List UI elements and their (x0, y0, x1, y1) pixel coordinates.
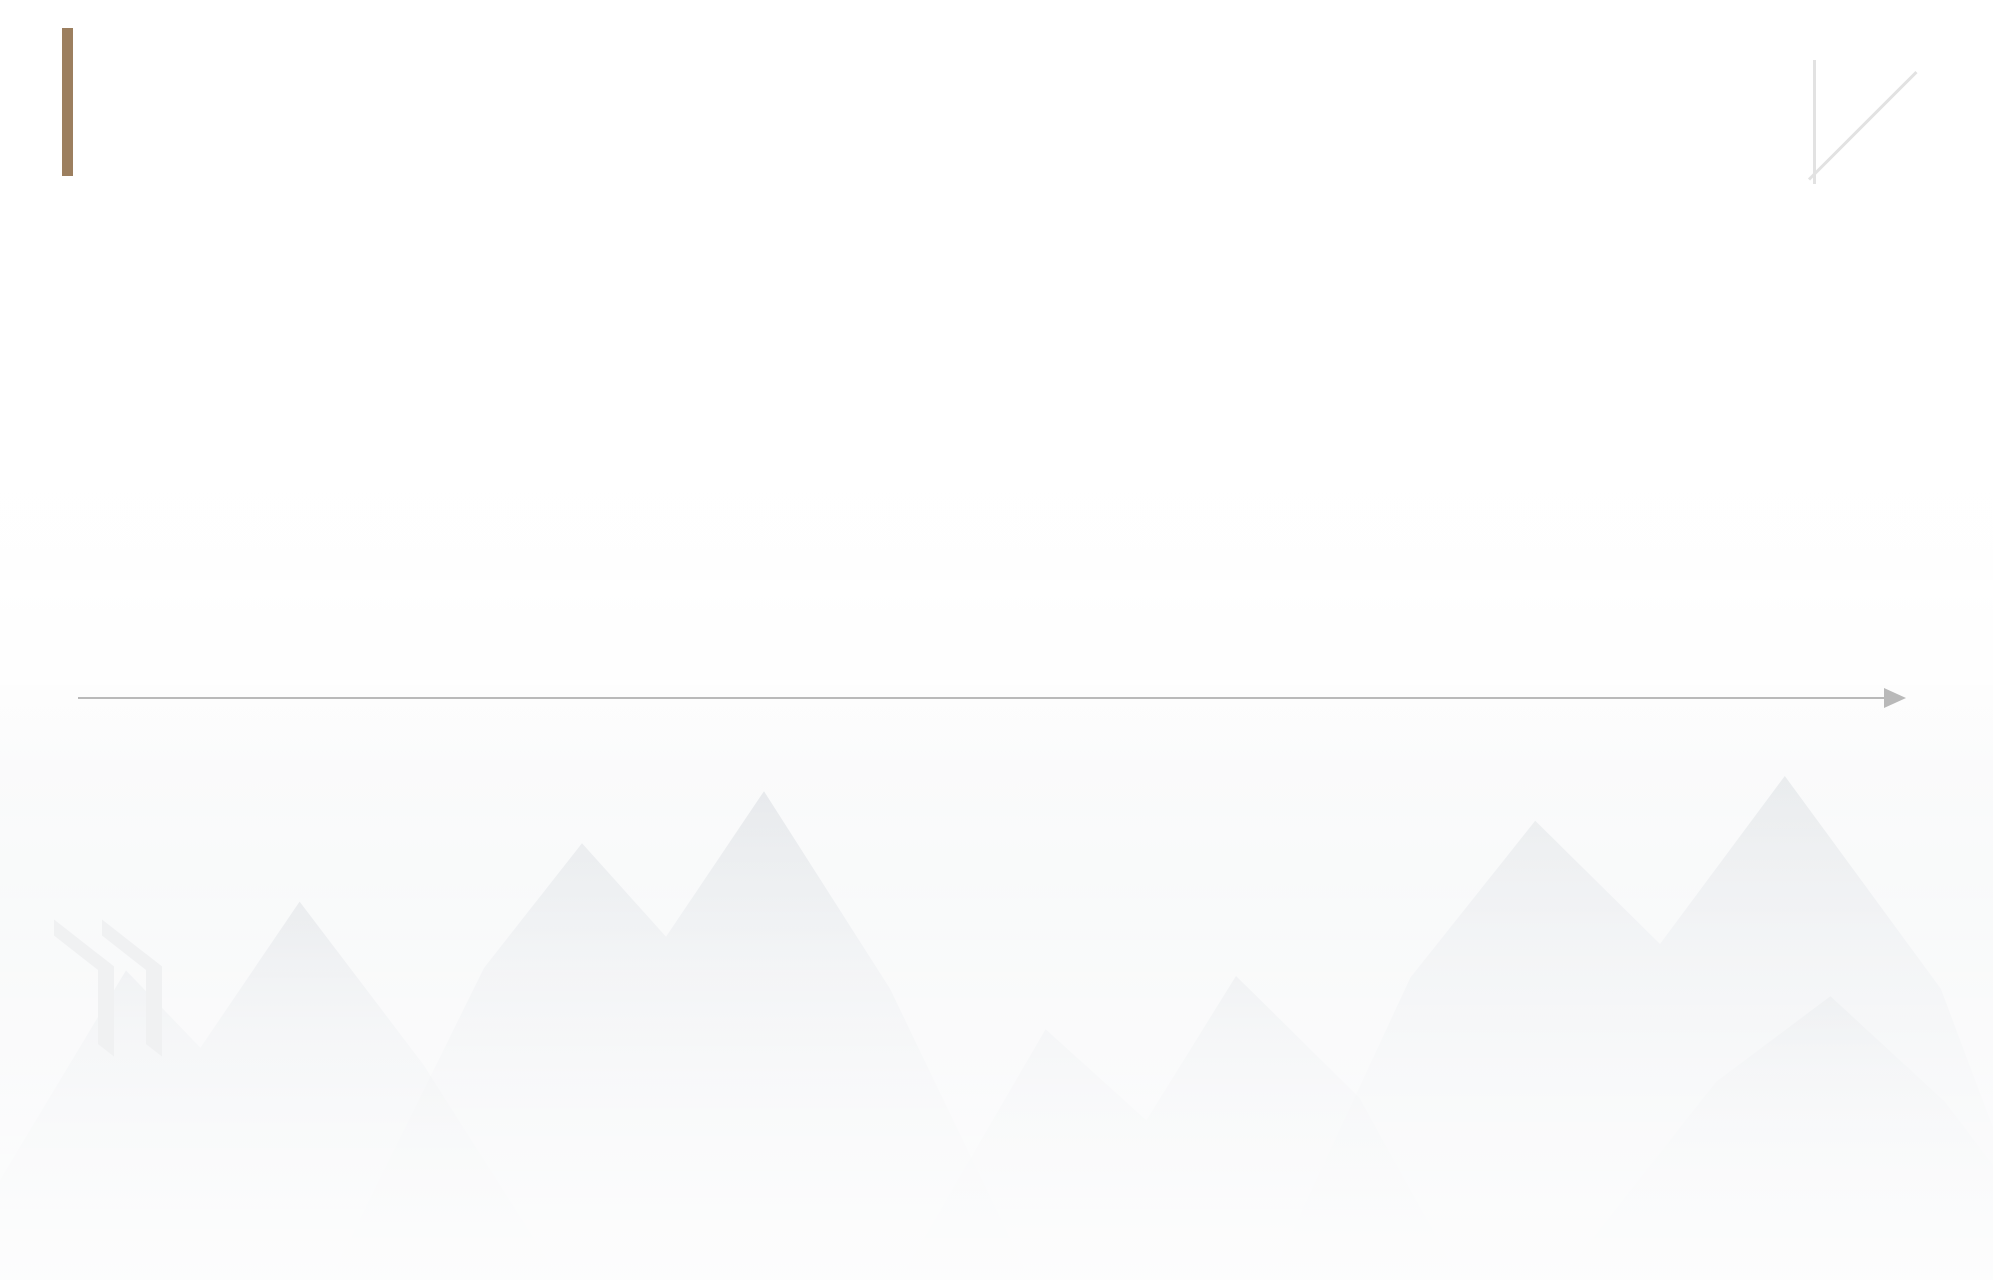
timeline-axis (78, 697, 1888, 699)
timeline-arrow-head (1884, 688, 1906, 708)
timeline (0, 0, 1993, 1280)
